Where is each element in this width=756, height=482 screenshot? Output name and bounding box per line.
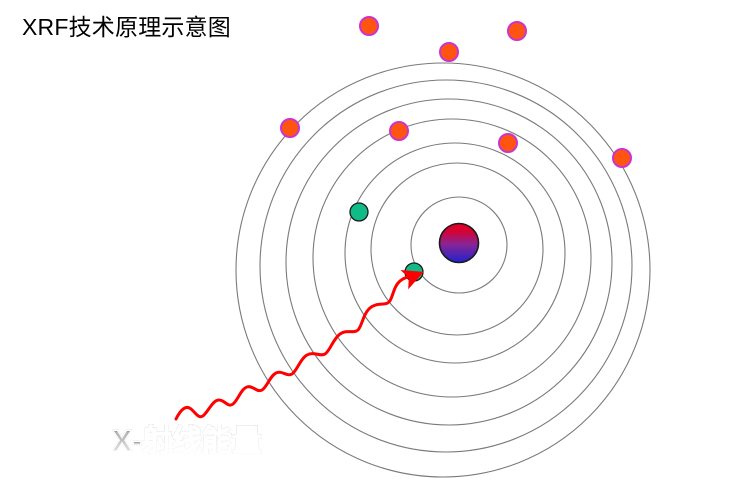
electron-outer-2	[508, 22, 526, 40]
electron-outer-1	[360, 17, 378, 35]
xray-wave-path	[176, 275, 416, 419]
electron-outer-3	[440, 43, 458, 61]
orbit-shell-6	[260, 80, 632, 452]
xray-energy-label: X-射线能量	[112, 424, 262, 460]
electron-outer-4	[281, 119, 299, 137]
figure-canvas: XRF技术原理示意图 X-射线能量	[0, 0, 756, 482]
electron-outer-6	[499, 134, 517, 152]
electron-outer-7	[613, 149, 631, 167]
xrf-diagram-svg	[0, 0, 756, 482]
nucleus-core	[440, 224, 479, 263]
nucleus	[440, 224, 479, 263]
orbit-shell-5	[286, 99, 612, 425]
outer-electron-group	[281, 17, 631, 167]
page-title: XRF技术原理示意图	[22, 12, 231, 42]
electron-outer-5	[390, 122, 408, 140]
electron-inner-1	[350, 203, 368, 221]
xray-beam	[176, 275, 416, 419]
inner-electron-group	[350, 203, 423, 281]
